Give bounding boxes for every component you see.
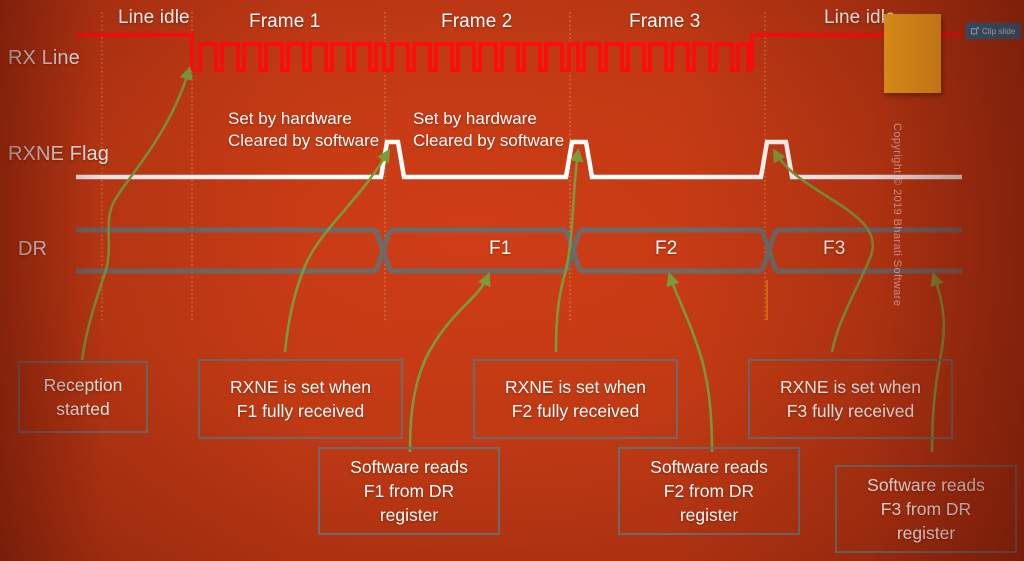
dr-value-f3: F3 [823,238,845,260]
copyright-watermark: Copyright © 2019 Bharati Software [891,123,903,323]
callout-rxne-f1[interactable]: RXNE is set when F1 fully received [198,359,403,439]
label-line-idle-left: Line idle [118,7,190,29]
annotation-frame-2: Set by hardware Cleared by software [413,108,564,152]
clip-slide-label: Clip slide [982,27,1015,36]
annotation-frame-1: Set by hardware Cleared by software [228,108,379,152]
callout-rxne-f3[interactable]: RXNE is set when F3 fully received [748,359,953,439]
callout-reception-started[interactable]: Reception started [18,361,148,433]
dr-value-f1: F1 [489,238,511,260]
slide-canvas: Line idle Frame 1 Frame 2 Frame 3 Line i… [0,0,1024,561]
label-frame-3: Frame 3 [629,11,700,33]
row-label-rx-line: RX Line [8,47,80,70]
row-label-dr: DR [18,238,47,261]
row-label-rxne-flag: RXNE Flag [8,143,109,166]
callout-read-f2[interactable]: Software reads F2 from DR register [618,447,800,535]
callout-read-f1[interactable]: Software reads F1 from DR register [318,447,500,535]
label-frame-1: Frame 1 [249,11,320,33]
clip-slide-icon [971,27,979,35]
clip-slide-button[interactable]: Clip slide [966,23,1021,39]
rx-line-waveform [76,35,962,70]
callout-rxne-f2[interactable]: RXNE is set when F2 fully received [473,359,678,439]
dr-value-f2: F2 [655,238,677,260]
callout-read-f3[interactable]: Software reads F3 from DR register [835,465,1017,553]
label-frame-2: Frame 2 [441,11,512,33]
orange-highlight-block [884,14,941,93]
